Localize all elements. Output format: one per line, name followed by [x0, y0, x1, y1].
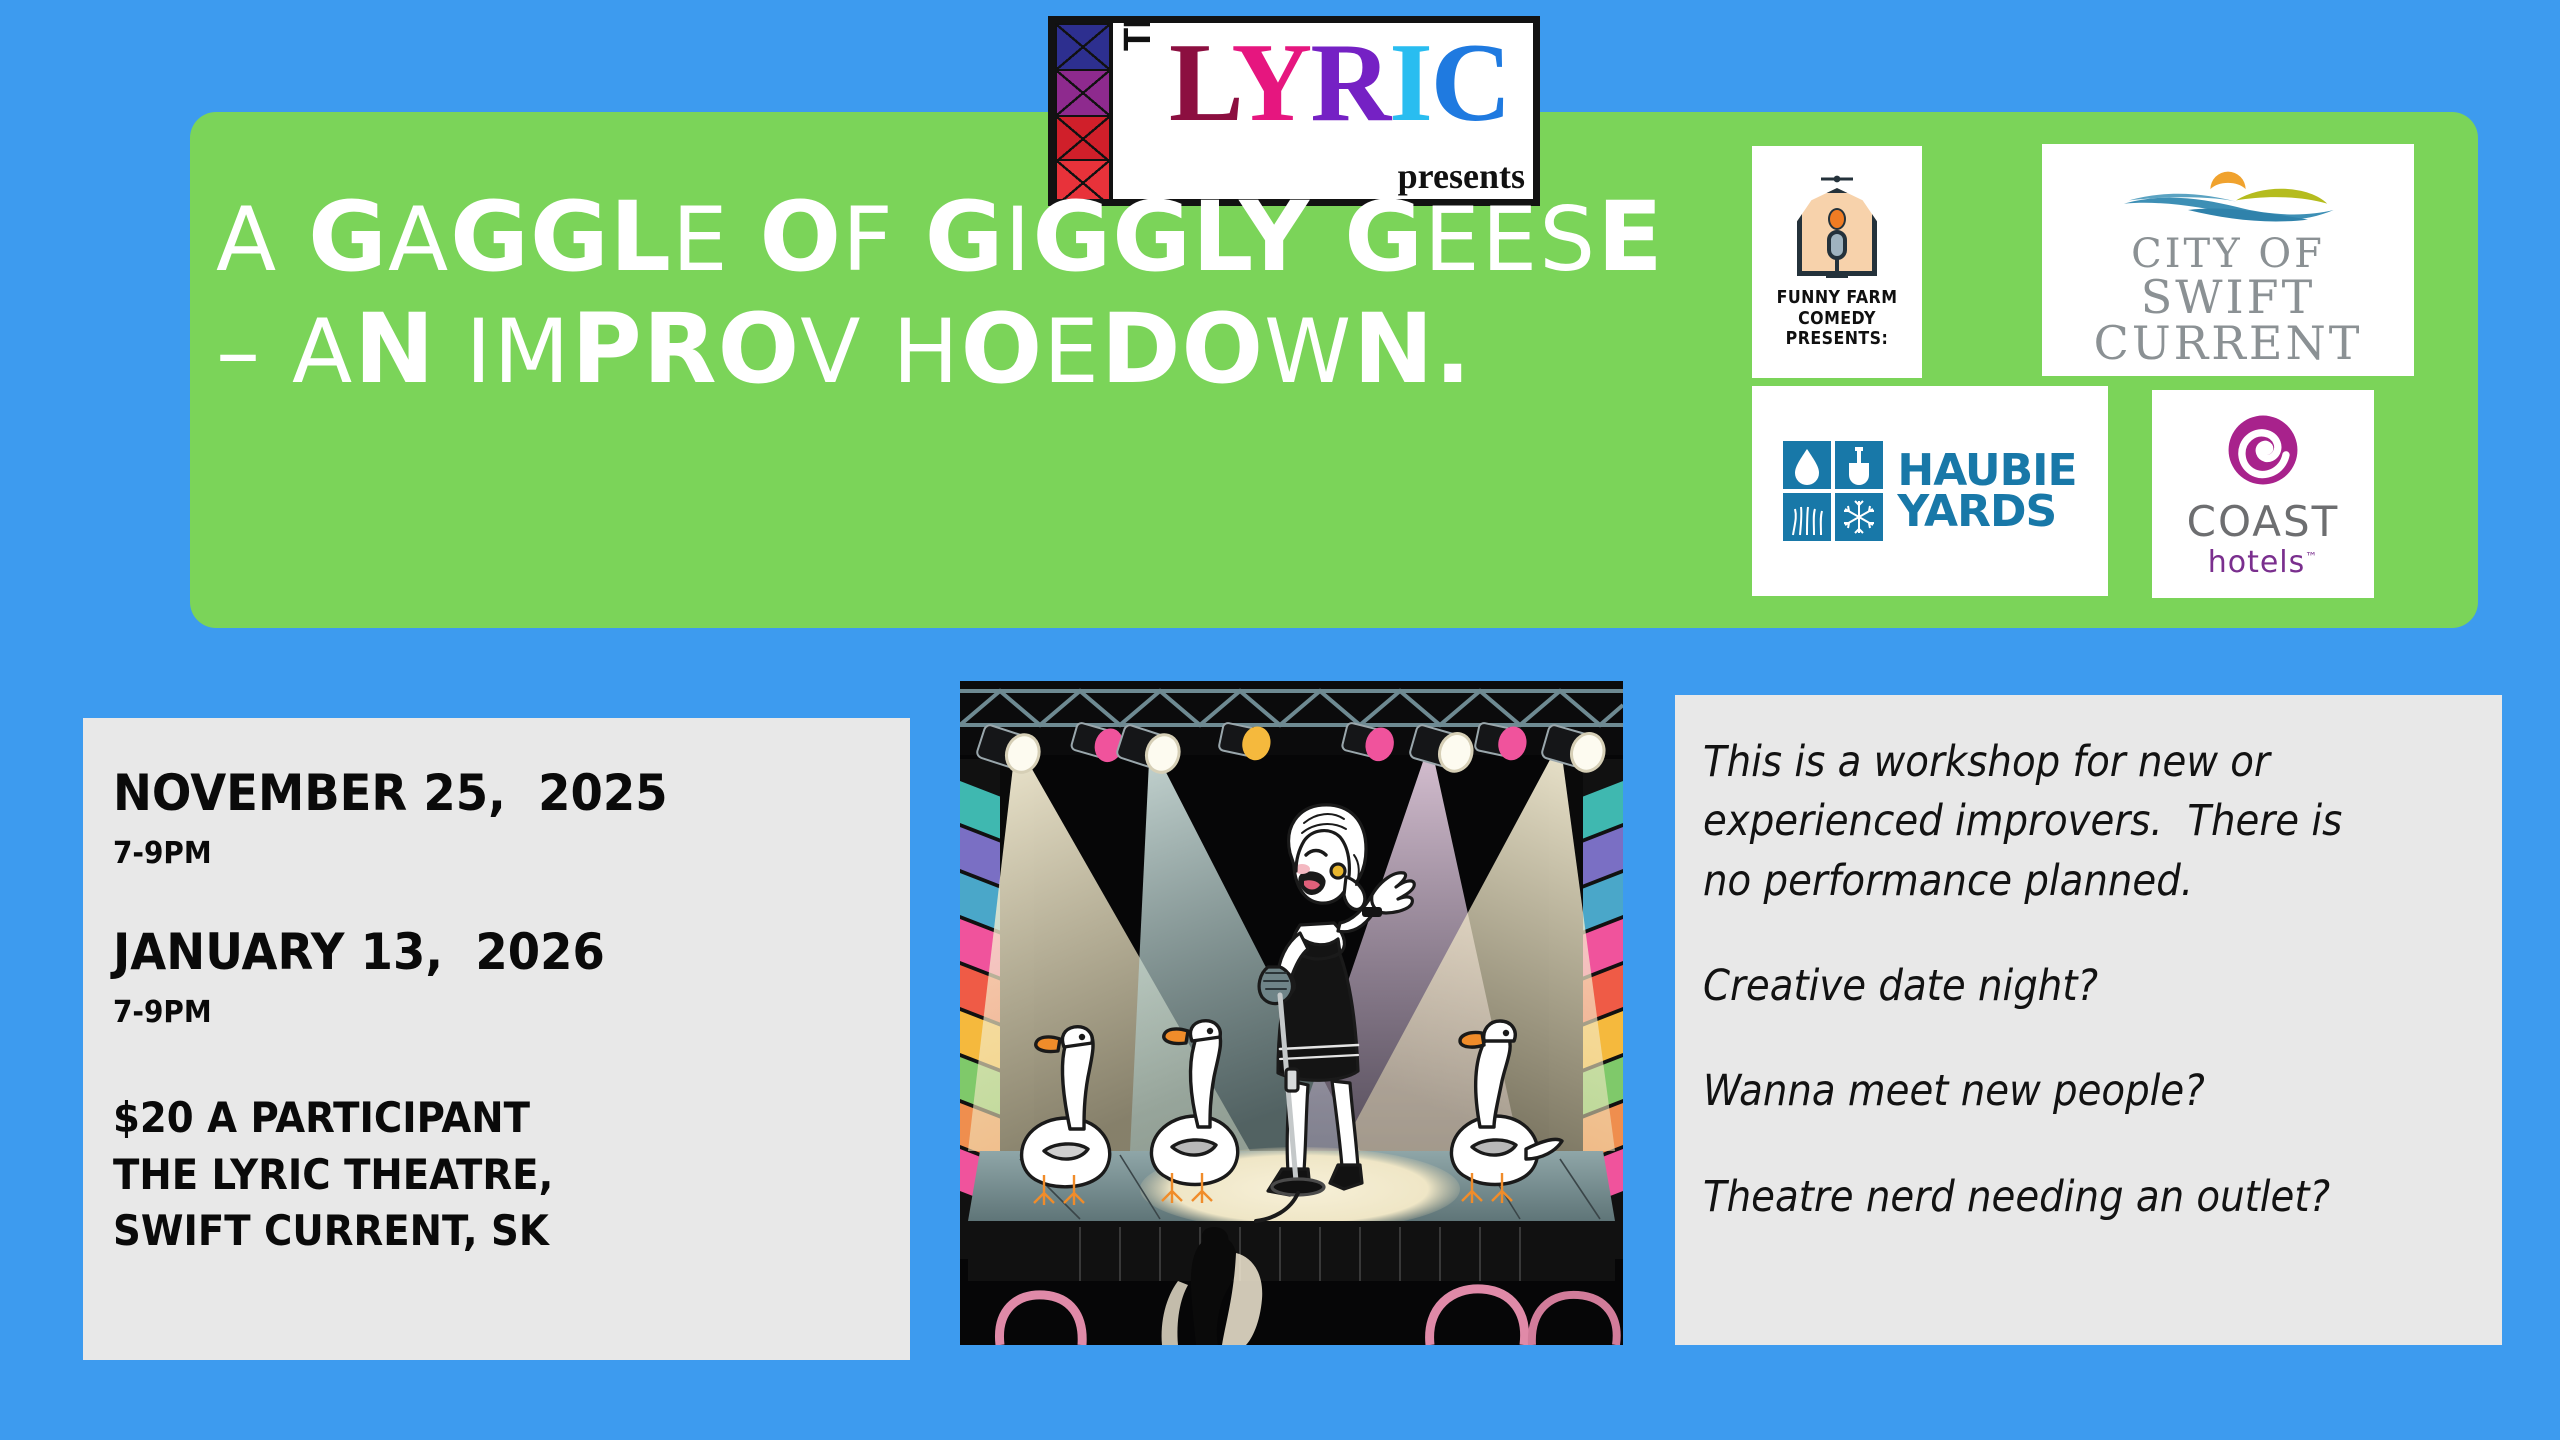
grass-icon: [1783, 493, 1831, 541]
haubie-line2: YARDS: [1897, 491, 2076, 532]
trademark-symbol: ™: [2305, 550, 2318, 564]
blurb-paragraph-1: This is a workshop for new or experience…: [1703, 733, 2393, 911]
funny-farm-line1: FUNNY FARM: [1767, 288, 1906, 309]
title-segment: O: [760, 181, 843, 293]
event-date-1: NOVEMBER 25, 2025: [113, 764, 854, 822]
title-segment: O: [1182, 293, 1265, 405]
coast-sub-wordmark: hotels™: [2208, 545, 2319, 580]
blurb-question-3: Theatre nerd needing an outlet?: [1703, 1168, 2393, 1227]
weathervane-icon: [1820, 174, 1854, 184]
title-segment: W: [1264, 300, 1353, 403]
lyric-presenter-logo: THE LYRIC presents: [1048, 16, 1540, 206]
sponsor-haubie-label: HAUBIE YARDS: [1897, 450, 2076, 533]
title-segment: G: [925, 181, 1005, 293]
water-droplet-icon: [1783, 441, 1831, 489]
lyric-letter-l: L: [1169, 21, 1231, 145]
city-line1: CITY OF: [2052, 234, 2404, 274]
title-segment: A: [216, 188, 308, 291]
title-segment: V H: [800, 300, 960, 403]
title-segment: F: [842, 188, 895, 291]
haubie-icon-grid: [1783, 441, 1883, 541]
title-segment: – A: [216, 300, 354, 403]
funny-farm-line2: COMEDY PRESENTS:: [1767, 309, 1906, 350]
title-segment: GGLY G: [1033, 181, 1425, 293]
title-segment: G: [308, 181, 388, 293]
title-segment: N: [354, 293, 435, 405]
haubie-line1: HAUBIE: [1897, 450, 2076, 491]
venue-name: THE LYRIC THEATRE,: [113, 1147, 846, 1204]
title-segment: O: [961, 293, 1044, 405]
price-and-venue-block: $20 A PARTICIPANT THE LYRIC THEATRE, SWI…: [113, 1090, 910, 1260]
event-info-panel: NOVEMBER 25, 2025 7-9PM JANUARY 13, 2026…: [83, 718, 910, 1360]
coast-wordmark: COAST: [2187, 501, 2340, 543]
venue-city: SWIFT CURRENT, SK: [113, 1203, 846, 1260]
title-segment: [895, 188, 925, 291]
title-segment: E: [1043, 300, 1101, 403]
title-segment: E: [1597, 181, 1664, 293]
sponsor-logo-haubie-yards: HAUBIE YARDS: [1752, 386, 2108, 596]
title-segment: A: [388, 188, 450, 291]
title-segment: PR: [571, 293, 717, 405]
event-price: $20 A PARTICIPANT: [113, 1090, 846, 1147]
title-segment: E: [672, 188, 730, 291]
title-segment: O: [718, 293, 801, 405]
event-time-2: 7-9PM: [113, 995, 854, 1030]
shovel-icon: [1835, 441, 1883, 489]
title-segment: [730, 188, 760, 291]
page-title: A GAGGLE OF GIGGLY GEESE – AN IMPROV HOE…: [216, 188, 1696, 400]
barn-microphone-icon: [1791, 174, 1883, 282]
title-segment: IM: [436, 300, 572, 403]
sun-waves-icon: [2052, 154, 2404, 234]
lyric-letter-i: I: [1389, 21, 1431, 145]
coast-hotels-text: hotels: [2208, 545, 2306, 580]
title-line-1: A GAGGLE OF GIGGLY GEESE: [216, 188, 1696, 288]
title-segment: EES: [1424, 188, 1597, 291]
lyric-wordmark: LYRIC: [1169, 27, 1510, 139]
sponsor-logo-funny-farm: FUNNY FARM COMEDY PRESENTS:: [1752, 146, 1922, 378]
snowflake-icon: [1835, 493, 1883, 541]
event-date-block-2: JANUARY 13, 2026 7-9PM: [113, 923, 910, 1030]
title-segment: N.: [1353, 293, 1472, 405]
sponsor-logo-city-of-swift-current: CITY OF SWIFT CURRENT: [2042, 144, 2414, 376]
sponsor-logo-coast-hotels: COAST hotels™: [2152, 390, 2374, 598]
blurb-question-2: Wanna meet new people?: [1703, 1062, 2393, 1121]
stained-glass-pattern-icon: [1055, 23, 1113, 199]
lyric-letter-y: Y: [1231, 21, 1310, 145]
blurb-question-1: Creative date night?: [1703, 957, 2393, 1016]
stage-with-singer-and-geese-illustration: [960, 681, 1623, 1345]
title-segment: D: [1101, 293, 1182, 405]
spiral-wave-icon: [2222, 409, 2304, 491]
lyric-letter-r: R: [1310, 21, 1389, 145]
city-line2: SWIFT CURRENT: [2052, 274, 2404, 366]
workshop-description-panel: This is a workshop for new or experience…: [1675, 695, 2502, 1345]
lyric-the-text: THE: [1119, 16, 1157, 51]
sponsor-city-label: CITY OF SWIFT CURRENT: [2052, 234, 2404, 366]
event-date-2: JANUARY 13, 2026: [113, 923, 854, 981]
event-date-block-1: NOVEMBER 25, 2025 7-9PM: [113, 764, 910, 871]
sponsor-funny-farm-label: FUNNY FARM COMEDY PRESENTS:: [1767, 288, 1906, 350]
title-line-2: – AN IMPROV HOEDOWN.: [216, 300, 1696, 400]
title-segment: GGL: [450, 181, 672, 293]
lyric-letter-c: C: [1431, 21, 1510, 145]
title-segment: I: [1005, 188, 1033, 291]
event-time-1: 7-9PM: [113, 836, 854, 871]
